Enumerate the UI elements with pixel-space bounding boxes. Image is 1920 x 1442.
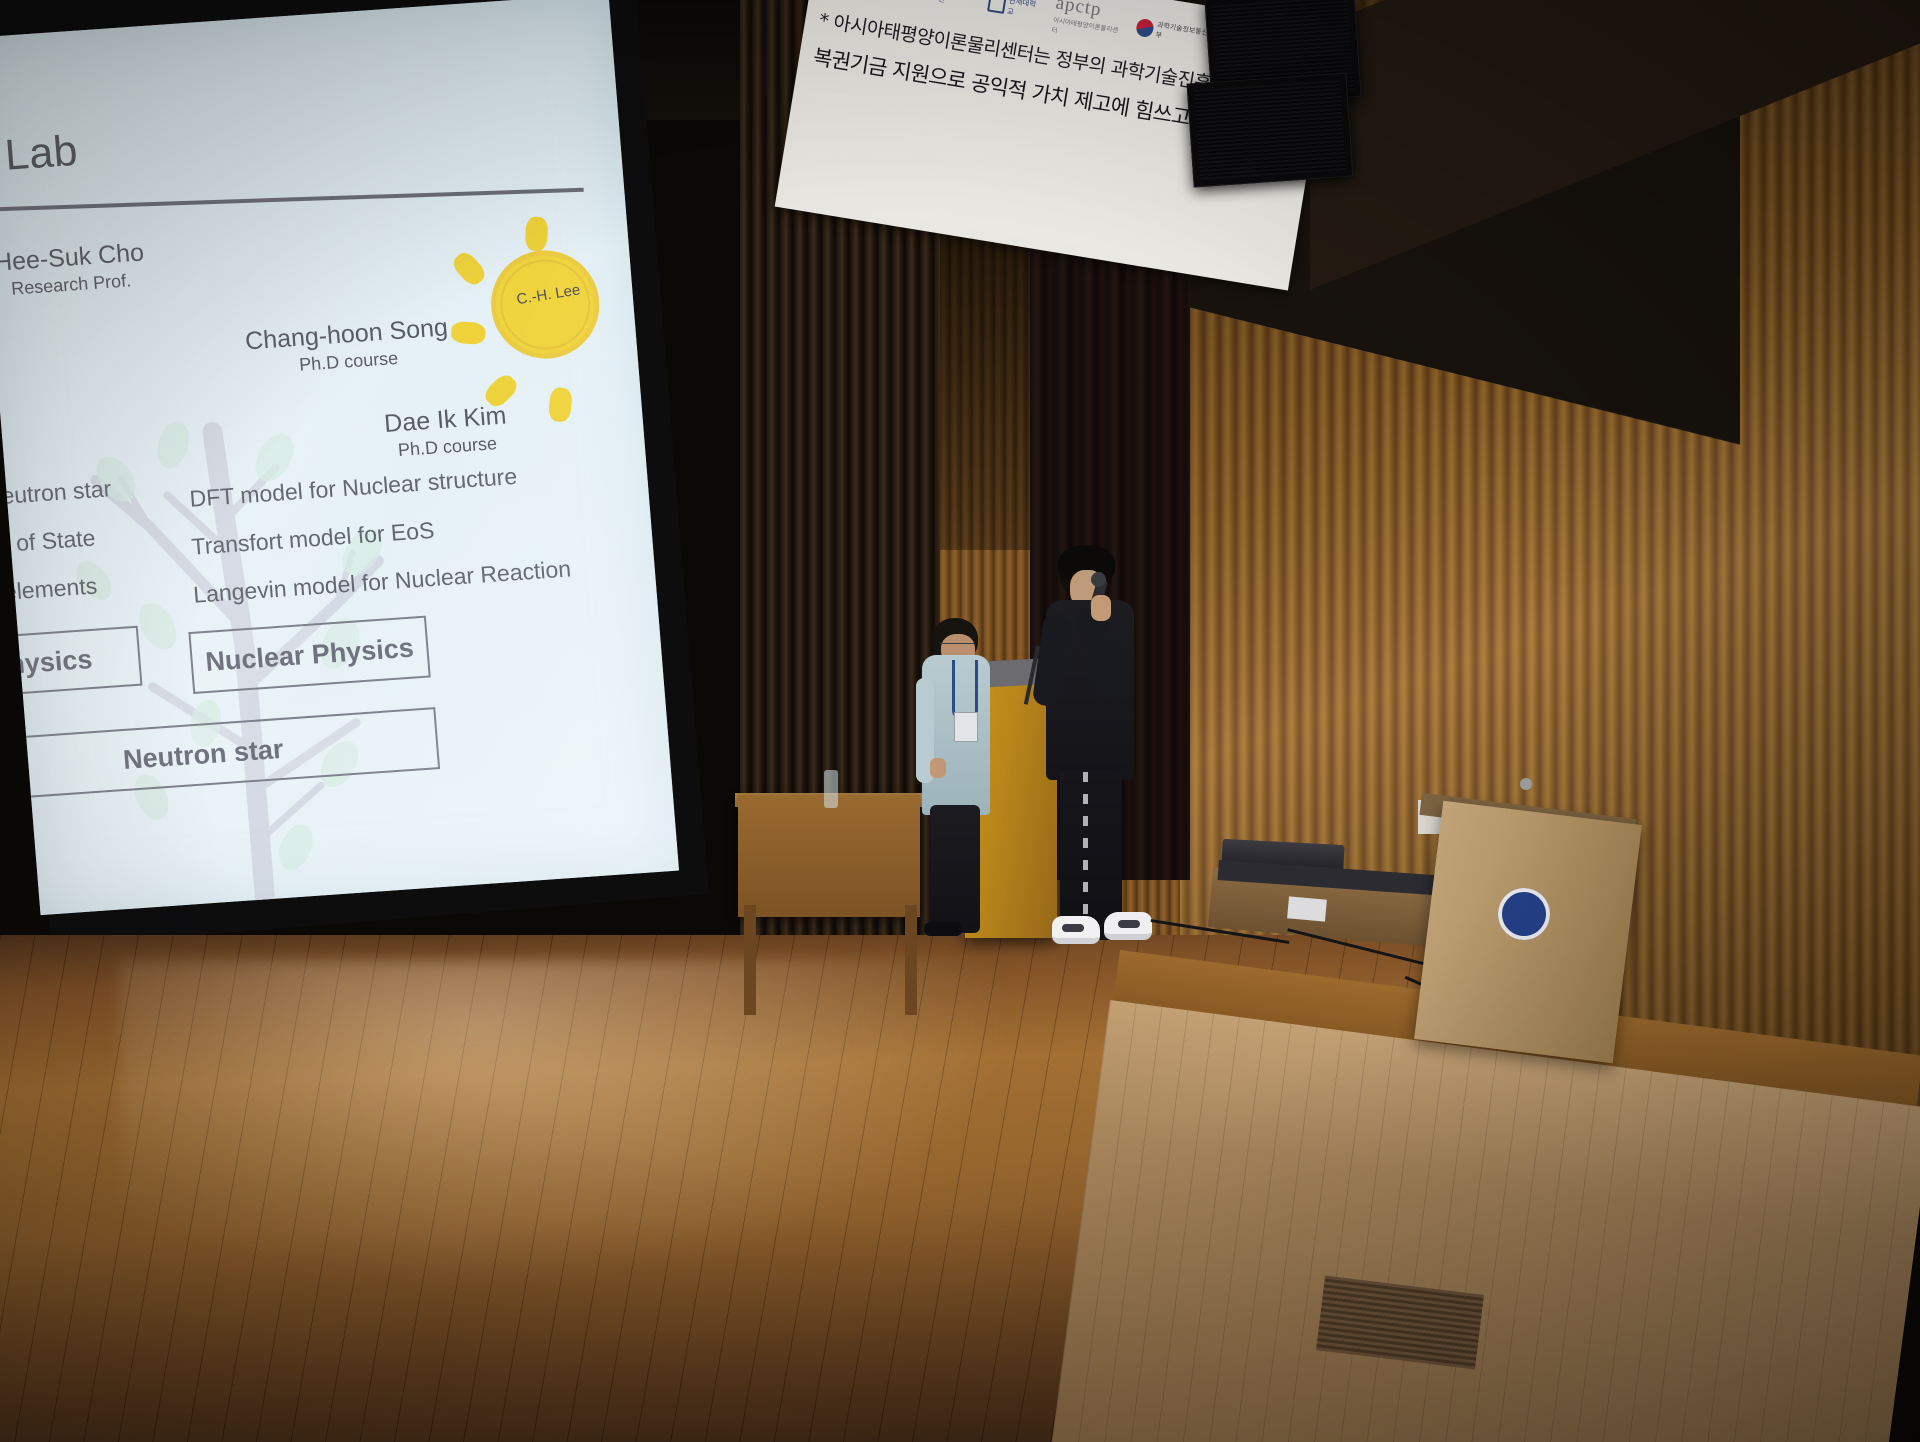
presenter-hand [1091, 595, 1111, 621]
yonsei-logo-sub: 연세대학교 [1006, 0, 1042, 22]
slide-person-0: Hee-Suk Cho Research Prof. [0, 238, 147, 300]
nrf-logo-icon: NRF 한국연구재단 [872, 0, 977, 12]
table-leg [905, 905, 917, 1015]
sun-ray-icon [525, 216, 549, 251]
photo-scene: NRF 한국연구재단 연세대학교 apctp 아시아태평양이론물리센터 과학기술… [0, 0, 1920, 1442]
assistant-glasses-icon [940, 643, 974, 652]
assistant-lanyard [952, 660, 978, 720]
shoe-swoosh-icon [1118, 920, 1140, 928]
water-bottle [824, 770, 838, 808]
assistant-trousers [930, 805, 980, 933]
av-label-plate [1287, 896, 1327, 921]
floor-reflection [120, 960, 1020, 1290]
presenter-shoe-left [1052, 916, 1100, 944]
sun-ray-icon [449, 249, 488, 289]
assistant-shoe [924, 922, 962, 936]
tree-artwork-icon [14, 306, 481, 915]
microphone-head-icon [1091, 572, 1106, 587]
slide-title-underline [0, 188, 584, 214]
presenter-shoe-right [1104, 912, 1152, 940]
apctp-logo-sub: 아시아태평양이론물리센터 [1051, 14, 1122, 45]
nrf-logo-sub: 한국연구재단 [938, 0, 977, 10]
sun-ray-icon [548, 387, 573, 423]
msit-logo-icon: 과학기술정보통신부 [1135, 17, 1213, 49]
sprinkler-head-icon [1520, 778, 1532, 790]
slide-person-2: Dae Ik Kim Ph.D course [383, 402, 509, 462]
yonsei-logo-icon: 연세대학교 [987, 0, 1042, 22]
table-leg [744, 905, 756, 1015]
speaker-grille-icon [1194, 80, 1346, 180]
shoe-swoosh-icon [1062, 924, 1084, 932]
sun-ray-icon [451, 321, 486, 345]
apctp-logo-icon: apctp 아시아태평양이론물리센터 [1051, 0, 1126, 45]
assistant-badge [954, 712, 978, 742]
assistant-hand [930, 758, 946, 778]
line-array-speaker-lower [1187, 73, 1354, 188]
presenter-trouser-stripe [1083, 772, 1088, 937]
slide-title: sics Lab [0, 127, 80, 187]
projection-screen: sics Lab C.-H. Lee Hee-Suk Cho Research … [0, 0, 679, 915]
msit-logo-sub: 과학기술정보통신부 [1155, 20, 1213, 49]
side-table [738, 795, 920, 917]
